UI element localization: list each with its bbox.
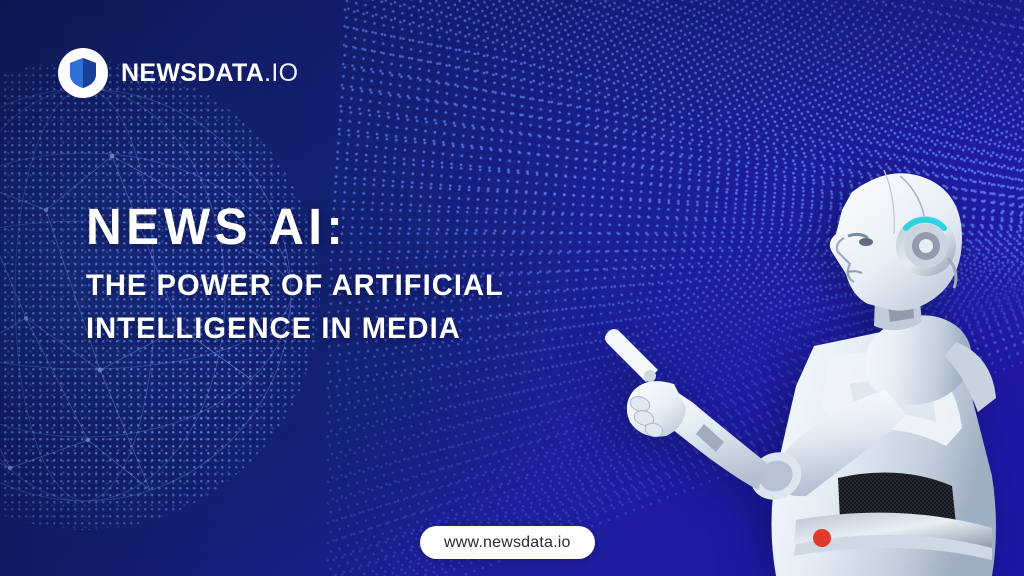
brand-logo[interactable]: NEWSDATA.IO	[58, 48, 298, 98]
page-title: NEWS AI:	[86, 200, 668, 253]
promo-banner: NEWSDATA.IO NEWS AI: THE POWER OF ARTIFI…	[0, 0, 1024, 576]
page-subtitle: THE POWER OF ARTIFICIAL INTELLIGENCE IN …	[86, 265, 668, 351]
brand-tld: .IO	[264, 59, 298, 87]
shield-icon	[58, 48, 108, 98]
robot-indicator-light	[813, 529, 831, 547]
subtitle-line-2: INTELLIGENCE IN MEDIA	[86, 308, 668, 351]
website-url-text: www.newsdata.io	[444, 534, 571, 552]
subtitle-line-1: THE POWER OF ARTIFICIAL	[86, 265, 668, 308]
website-url-pill[interactable]: www.newsdata.io	[420, 526, 595, 559]
brand-name: NEWSDATA	[121, 59, 264, 87]
brand-wordmark: NEWSDATA.IO	[121, 61, 298, 86]
headline-block: NEWS AI: THE POWER OF ARTIFICIAL INTELLI…	[86, 200, 686, 351]
